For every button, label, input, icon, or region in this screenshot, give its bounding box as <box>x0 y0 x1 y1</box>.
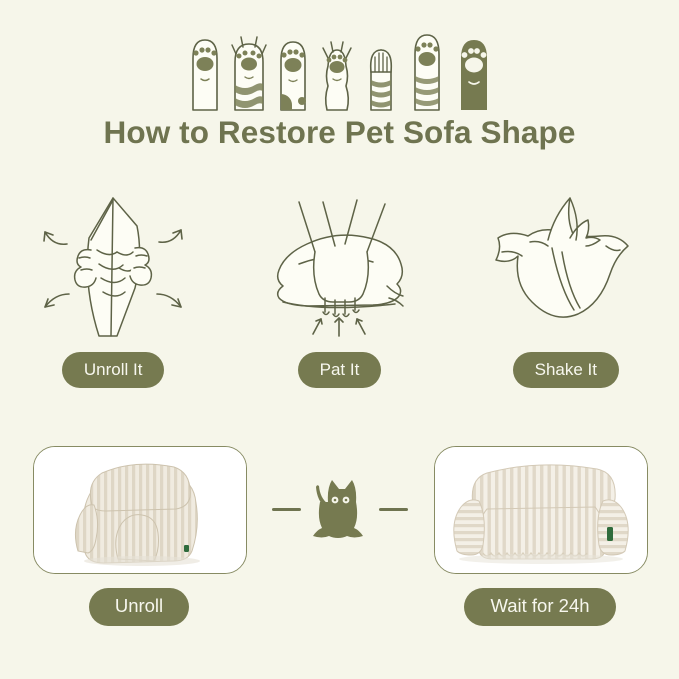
step-shake-it: Shake It <box>453 186 679 396</box>
bottom-label-before: Unroll <box>33 588 245 626</box>
paw-tall-striped-icon <box>405 32 449 112</box>
before-after-row: Unroll Wait for 24h <box>0 446 679 626</box>
step-unroll-it: Unroll It <box>0 186 226 396</box>
step-label-shake-it: Shake It <box>513 352 619 388</box>
steps-row: Unroll It <box>0 186 679 396</box>
product-photo-card-before <box>33 446 247 574</box>
restored-pet-sofa-photo <box>435 447 647 573</box>
step-pat-it: Pat It <box>226 186 452 396</box>
shake-illustration <box>466 186 666 346</box>
brand-tag <box>607 527 613 541</box>
badge-wait-for-24h: Wait for 24h <box>464 588 615 626</box>
paw-white-patch-icon <box>273 32 313 112</box>
paw-solid-olive-icon <box>453 32 495 112</box>
progress-separator <box>258 446 422 572</box>
step-label-unroll-it: Unroll It <box>62 352 165 388</box>
pat-arrows <box>313 318 365 336</box>
cat-silhouette-icon <box>311 472 369 546</box>
separator-dash-left <box>272 508 301 511</box>
bottom-label-after: Wait for 24h <box>434 588 646 626</box>
pat-illustration <box>239 186 439 346</box>
paw-clawed-wavy-icon <box>317 32 357 112</box>
infographic-root: How to Restore Pet Sofa Shape <box>0 0 679 679</box>
page-title: How to Restore Pet Sofa Shape <box>0 114 679 151</box>
separator-dash-right <box>379 508 408 511</box>
cat-paws-banner <box>0 22 679 112</box>
badge-unroll: Unroll <box>89 588 189 626</box>
paw-toes-striped-icon <box>361 32 401 112</box>
step-label-pat-it: Pat It <box>298 352 382 388</box>
unroll-illustration <box>13 186 213 346</box>
compressed-pet-bed-photo <box>34 447 246 573</box>
paw-plain-white-icon <box>185 32 225 112</box>
product-photo-card-after <box>434 446 648 574</box>
paw-striped-claws-icon <box>229 32 269 112</box>
